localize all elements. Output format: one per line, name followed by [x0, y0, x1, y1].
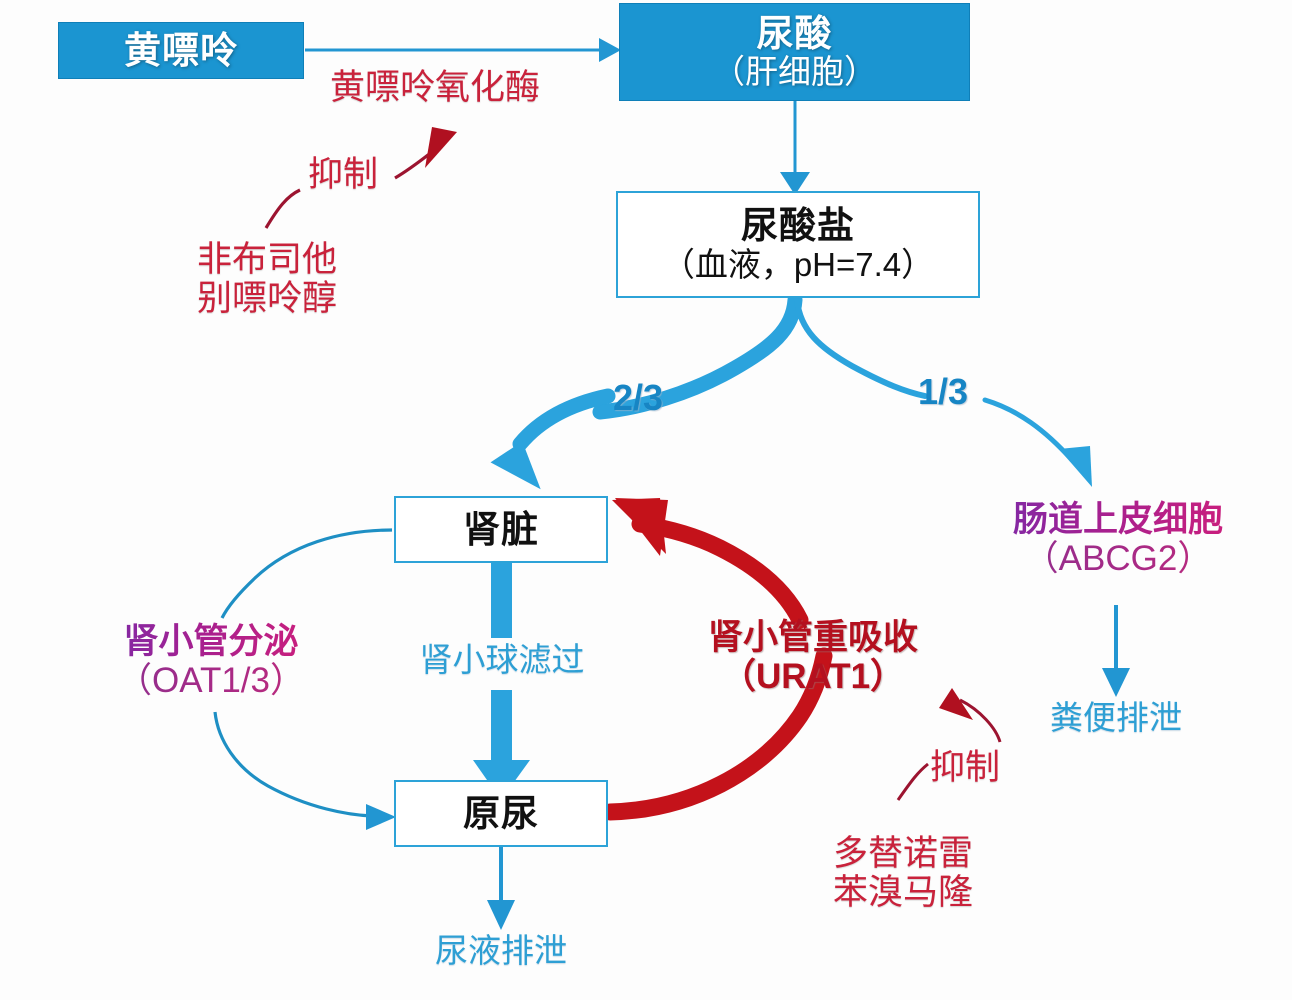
label-fraction-two-thirds: 2/3 [613, 378, 663, 418]
label-tubular-reabsorption: 肾小管重吸收 （URAT1） [686, 618, 940, 696]
node-xanthine-label: 黄嘌呤 [124, 30, 238, 71]
label-tubular-reabsorption-sub: （URAT1） [686, 657, 940, 696]
node-xanthine[interactable]: 黄嘌呤 [58, 22, 304, 79]
node-kidney[interactable]: 肾脏 [394, 496, 608, 563]
node-uric-acid[interactable]: 尿酸 （肝细胞） [619, 3, 970, 101]
node-uric-acid-label: 尿酸 [757, 13, 833, 54]
label-drugs-right: 多替诺雷 苯溴马隆 [808, 834, 998, 912]
node-urate-label: 尿酸盐 [741, 205, 855, 246]
label-febuxostat: 非布司他 [172, 240, 362, 279]
label-allopurinol: 别嘌呤醇 [172, 279, 362, 318]
label-intestinal-epithelium-main: 肠道上皮细胞 [990, 500, 1246, 539]
label-tubular-secretion-main: 肾小管分泌 [100, 622, 322, 661]
label-fraction-one-third: 1/3 [918, 372, 968, 412]
arrow-uric-acid-to-urate [780, 100, 810, 195]
label-tubular-secretion-sub: （OAT1/3） [100, 661, 322, 700]
label-drugs-left: 非布司他 别嘌呤醇 [172, 240, 362, 318]
arrow-intestine-to-feces [1102, 605, 1130, 697]
node-uric-acid-sublabel: （肝细胞） [712, 54, 877, 91]
label-benzbromarone: 苯溴马隆 [808, 873, 998, 912]
arrow-kidney-to-primary-urine [473, 563, 530, 800]
label-dotinurad: 多替诺雷 [808, 834, 998, 873]
label-intestinal-epithelium-sub: （ABCG2） [990, 539, 1246, 578]
label-xanthine-oxidase: 黄嘌呤氧化酶 [330, 68, 540, 107]
label-intestinal-epithelium: 肠道上皮细胞 （ABCG2） [990, 500, 1246, 578]
node-primary-urine[interactable]: 原尿 [394, 780, 608, 847]
arrow-xanthine-to-uric-acid [305, 38, 621, 62]
node-kidney-label: 肾脏 [463, 509, 539, 550]
label-tubular-reabsorption-main: 肾小管重吸收 [686, 618, 940, 657]
node-urate-sublabel: （血液，pH=7.4） [662, 247, 934, 284]
diagram-canvas: 黄嘌呤 尿酸 （肝细胞） 尿酸盐 （血液，pH=7.4） 肾脏 原尿 黄嘌呤氧化… [0, 0, 1292, 1000]
node-primary-urine-label: 原尿 [463, 793, 539, 834]
label-glomerular-filtration: 肾小球滤过 [396, 642, 608, 679]
label-tubular-secretion: 肾小管分泌 （OAT1/3） [100, 622, 322, 700]
label-inhibit-right: 抑制 [930, 748, 1000, 787]
label-urinary-excretion: 尿液排泄 [395, 933, 607, 970]
label-fecal-excretion: 粪便排泄 [1010, 700, 1222, 737]
arrow-primary-urine-to-urine [487, 847, 515, 930]
node-urate[interactable]: 尿酸盐 （血液，pH=7.4） [616, 191, 980, 298]
label-inhibit-left: 抑制 [308, 155, 378, 194]
